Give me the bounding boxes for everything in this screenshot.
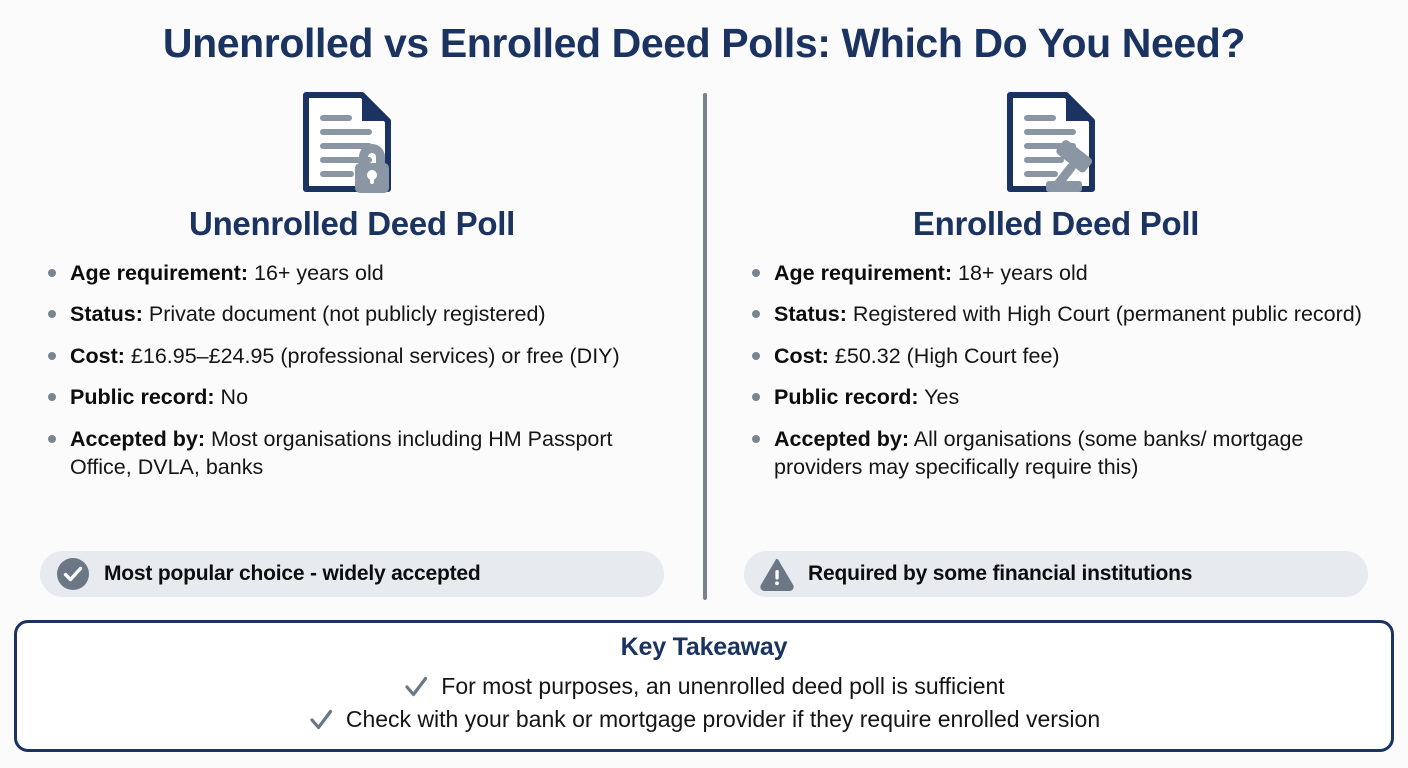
infographic-root: Unenrolled vs Enrolled Deed Polls: Which… [0,0,1408,768]
list-item: Cost: £16.95–£24.95 (professional servic… [40,342,664,370]
bullet-value: Registered with High Court (permanent pu… [847,302,1362,326]
check-icon [403,674,429,700]
bullet-value: £50.32 (High Court fee) [829,344,1060,368]
list-item: Check with your bank or mortgage provide… [17,703,1391,736]
bullet-dot-icon [48,269,56,277]
warning-triangle-icon [760,557,794,591]
list-item: Age requirement: 16+ years old [40,259,664,287]
bullet-dot-icon [48,352,56,360]
document-gavel-icon [744,87,1368,197]
bullet-label: Cost: [70,344,125,368]
key-takeaway-item-text: Check with your bank or mortgage provide… [346,703,1100,736]
check-circle-icon [56,557,90,591]
list-item: Status: Registered with High Court (perm… [744,300,1368,328]
comparison-columns: Unenrolled Deed Poll Age requirement: 16… [0,85,1408,605]
list-item: Cost: £50.32 (High Court fee) [744,342,1368,370]
column-unenrolled: Unenrolled Deed Poll Age requirement: 16… [0,85,704,605]
list-item: For most purposes, an unenrolled deed po… [17,670,1391,703]
bullet-dot-icon [752,269,760,277]
status-badge-label: Most popular choice - widely accepted [104,562,481,586]
bullet-label: Status: [774,302,847,326]
status-badge-unenrolled: Most popular choice - widely accepted [40,551,664,597]
list-item: Age requirement: 18+ years old [744,259,1368,287]
bullet-label: Accepted by: [774,427,909,451]
bullet-value: £16.95–£24.95 (professional services) or… [125,344,620,368]
page-title: Unenrolled vs Enrolled Deed Polls: Which… [0,20,1408,67]
bullet-label: Cost: [774,344,829,368]
bullet-dot-icon [752,393,760,401]
bullet-value: Private document (not publicly registere… [143,302,546,326]
list-item: Accepted by: All organisations (some ban… [744,425,1368,482]
bullet-label: Accepted by: [70,427,205,451]
column-heading-unenrolled: Unenrolled Deed Poll [40,205,664,243]
bullet-label: Age requirement: [774,261,952,285]
column-enrolled: Enrolled Deed Poll Age requirement: 18+ … [704,85,1408,605]
document-lock-icon [40,87,664,197]
bullet-list-unenrolled: Age requirement: 16+ years old Status: P… [40,259,664,481]
bullet-label: Public record: [70,385,215,409]
bullet-list-enrolled: Age requirement: 18+ years old Status: R… [744,259,1368,481]
bullet-label: Status: [70,302,143,326]
list-item: Public record: Yes [744,383,1368,411]
bullet-value: Yes [919,385,960,409]
list-item: Accepted by: Most organisations includin… [40,425,664,482]
status-badge-label: Required by some financial institutions [808,562,1192,586]
bullet-dot-icon [48,435,56,443]
bullet-value: 18+ years old [952,261,1088,285]
bullet-value: No [215,385,248,409]
key-takeaway-item-text: For most purposes, an unenrolled deed po… [441,670,1004,703]
bullet-label: Age requirement: [70,261,248,285]
column-heading-enrolled: Enrolled Deed Poll [744,205,1368,243]
bullet-label: Public record: [774,385,919,409]
bullet-dot-icon [752,310,760,318]
bullet-dot-icon [752,435,760,443]
bullet-dot-icon [48,310,56,318]
bullet-value: 16+ years old [248,261,384,285]
key-takeaway-box: Key Takeaway For most purposes, an unenr… [14,620,1394,752]
status-badge-enrolled: Required by some financial institutions [744,551,1368,597]
bullet-dot-icon [48,393,56,401]
list-item: Public record: No [40,383,664,411]
key-takeaway-title: Key Takeaway [17,633,1391,662]
check-icon [308,707,334,733]
key-takeaway-list: For most purposes, an unenrolled deed po… [17,670,1391,737]
bullet-dot-icon [752,352,760,360]
list-item: Status: Private document (not publicly r… [40,300,664,328]
